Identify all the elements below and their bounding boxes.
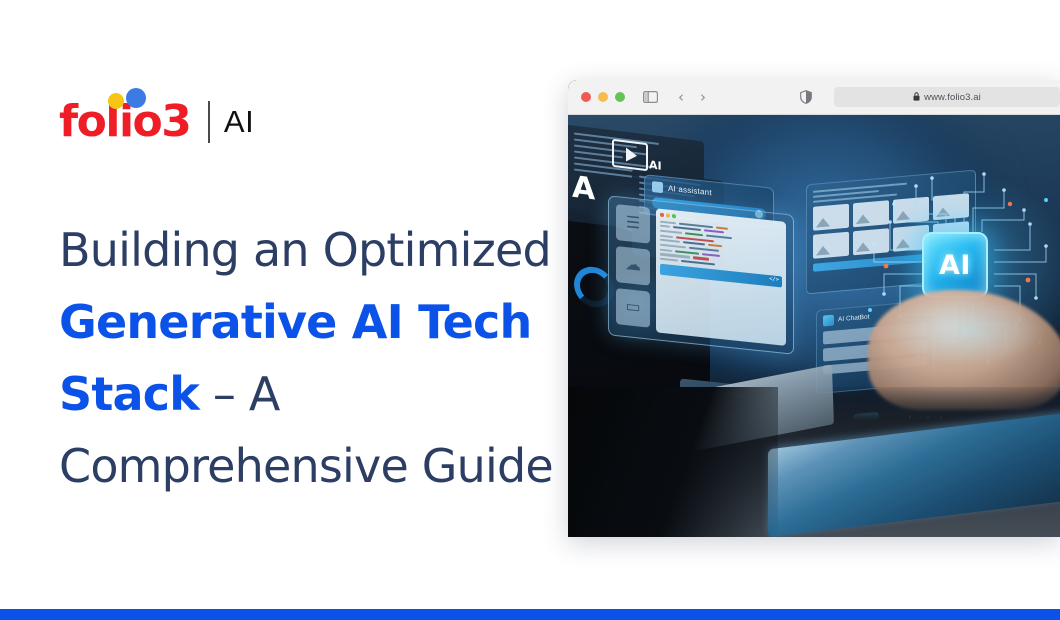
- browser-toolbar: ‹ › www.folio3.ai: [568, 80, 1060, 115]
- page-title: Building an Optimized Generative AI Tech…: [59, 214, 559, 502]
- code-tag-label: </>: [769, 276, 779, 283]
- forward-button[interactable]: ›: [700, 90, 706, 105]
- cloud-icon: ☁: [616, 246, 650, 286]
- logo-mark: folio3: [59, 96, 190, 148]
- poster-canvas: folio3 AI Building an Optimized Generati…: [0, 0, 1060, 620]
- back-button[interactable]: ‹: [678, 90, 684, 105]
- title-segment-1: Building an Optimized: [59, 223, 551, 277]
- letter-a-glyph: A: [572, 170, 595, 208]
- secure-lock-icon: [913, 92, 920, 103]
- logo-suffix-ai: AI: [224, 104, 254, 140]
- ai-assistant-label: AI assistant: [668, 184, 712, 198]
- play-video-icon: [612, 139, 648, 171]
- ai-chip-label: AI: [939, 250, 971, 281]
- chatbot-icon: [823, 315, 834, 327]
- play-ai-label: AI: [649, 158, 662, 173]
- privacy-shield-icon[interactable]: [800, 90, 812, 104]
- logo-dot-blue-icon: [126, 88, 146, 108]
- title-segment-accent: Generative AI Tech Stack: [59, 295, 531, 421]
- hero-image: AI A AI assistant ☰ ☁ ▭: [568, 115, 1060, 537]
- address-bar[interactable]: www.folio3.ai: [834, 87, 1060, 107]
- sidebar-toggle-icon[interactable]: [643, 91, 658, 103]
- assistant-sparkle-icon: [652, 181, 663, 193]
- editor-side-rail: ☰ ☁ ▭: [616, 204, 650, 332]
- close-window-icon[interactable]: [581, 92, 591, 102]
- logo-dot-yellow-icon: [108, 93, 124, 109]
- brand-logo[interactable]: folio3 AI: [59, 96, 254, 148]
- window-controls[interactable]: [581, 92, 625, 102]
- clipboard-icon: ☰: [616, 204, 650, 244]
- accent-border-bottom: [0, 609, 1060, 620]
- maximize-window-icon[interactable]: [615, 92, 625, 102]
- thumbnail: [813, 232, 849, 259]
- logo-divider: [208, 101, 210, 143]
- minimize-window-icon[interactable]: [598, 92, 608, 102]
- folder-icon: ▭: [616, 288, 650, 328]
- editor-code-area: </>: [656, 208, 786, 346]
- code-editor-card: ☰ ☁ ▭: [608, 195, 794, 355]
- logo-wordmark: folio3: [59, 96, 190, 148]
- desk-shadow: [568, 387, 778, 537]
- ai-chip: AI: [922, 232, 988, 298]
- browser-window: ‹ › www.folio3.ai: [568, 80, 1060, 537]
- thumbnail: [813, 204, 849, 231]
- left-content-column: folio3 AI Building an Optimized Generati…: [0, 0, 568, 609]
- navigation-arrows[interactable]: ‹ ›: [678, 90, 706, 105]
- hand-glow: [886, 295, 1046, 365]
- address-bar-url: www.folio3.ai: [924, 92, 981, 103]
